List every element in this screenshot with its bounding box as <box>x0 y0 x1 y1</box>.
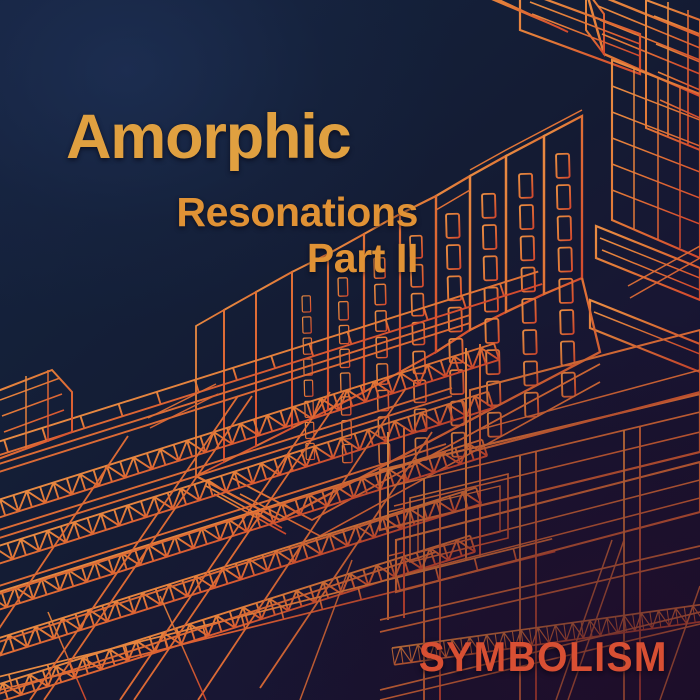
background-glow-bottom-right <box>0 0 700 700</box>
album-cover: Amorphic Resonations Part II SYMBOLISM <box>0 0 700 700</box>
